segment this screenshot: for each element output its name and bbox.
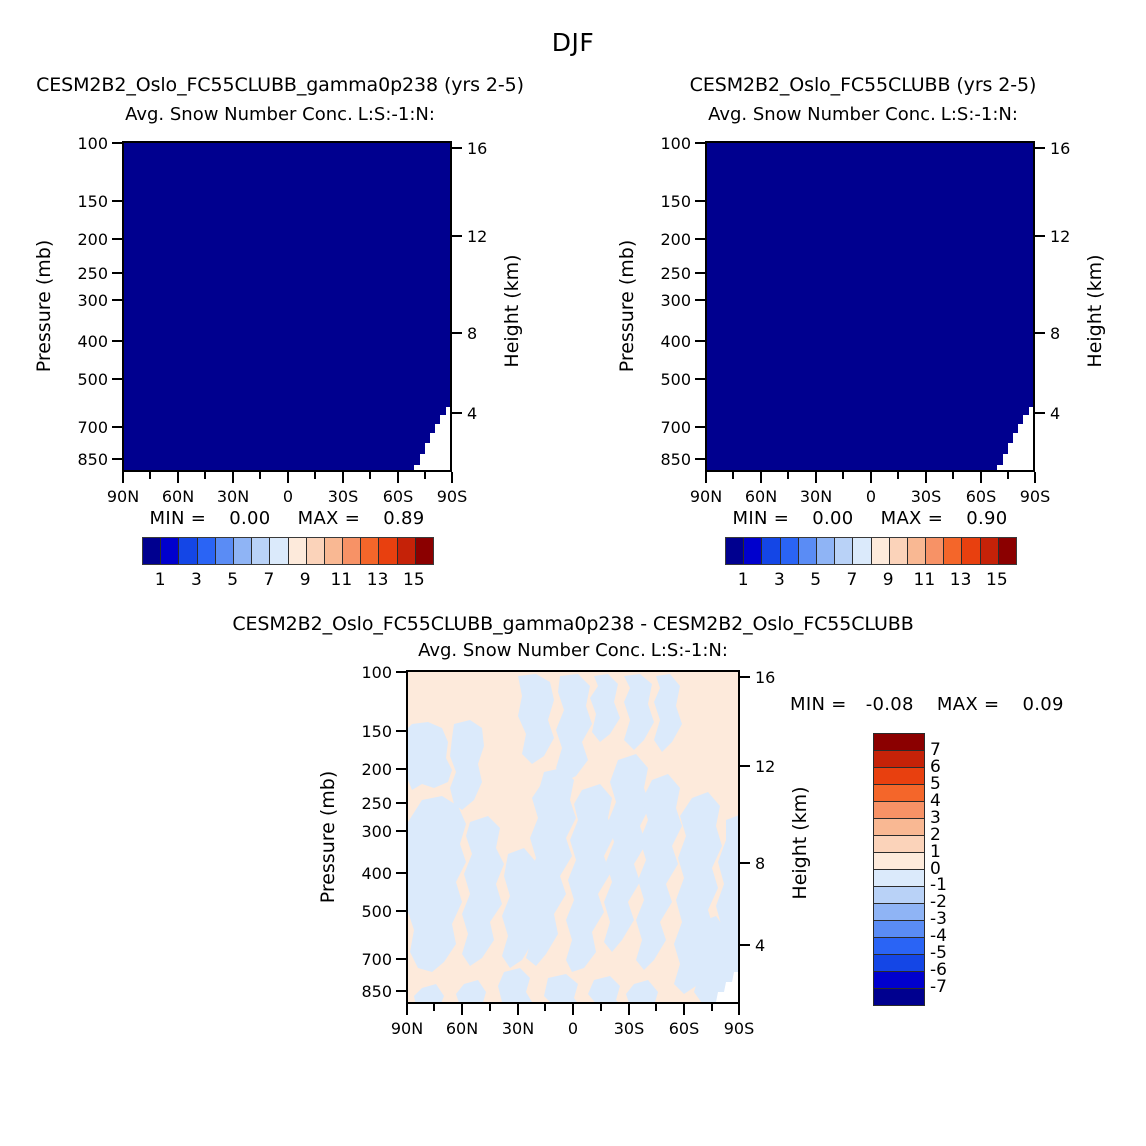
pressure-tick-label: 300 xyxy=(60,291,108,310)
colorbar-cell[interactable] xyxy=(270,538,288,564)
lat-tick-label: 60S xyxy=(955,487,1007,506)
colorbar-cell[interactable] xyxy=(874,853,924,870)
colorbar-cell[interactable] xyxy=(872,538,890,564)
lat-tick-label: 90N xyxy=(381,1019,433,1038)
lat-tick-label: 30N xyxy=(492,1019,544,1038)
min-value: 0.00 xyxy=(812,508,853,529)
colorbar-cell[interactable] xyxy=(874,819,924,836)
colorbar-tick-label: -7 xyxy=(930,977,947,997)
right-axis-title: Height (km) xyxy=(789,763,811,923)
colorbar-cell[interactable] xyxy=(944,538,962,564)
height-tick-label: 12 xyxy=(755,757,775,776)
pressure-tick-label: 300 xyxy=(643,291,691,310)
colorbar-ticklabels-top-right: 13579111315 xyxy=(725,570,1015,594)
pressure-tick-label: 100 xyxy=(60,134,108,153)
lat-tick-label: 30S xyxy=(900,487,952,506)
lat-tick-label: 60S xyxy=(372,487,424,506)
colorbar-cell[interactable] xyxy=(726,538,744,564)
colorbar-tick-label: 5 xyxy=(218,570,248,590)
colorbar-vertical-bottom-diff[interactable] xyxy=(873,733,925,1006)
pressure-tick-label: 200 xyxy=(643,230,691,249)
height-tick-label: 8 xyxy=(755,854,765,873)
colorbar-cell[interactable] xyxy=(874,955,924,972)
pressure-tick-label: 150 xyxy=(643,192,691,211)
max-value: 0.90 xyxy=(966,508,1007,529)
min-value: 0.00 xyxy=(229,508,270,529)
lat-tick-label: 90N xyxy=(680,487,732,506)
height-tick-label: 12 xyxy=(1050,227,1070,246)
colorbar-cell[interactable] xyxy=(343,538,361,564)
height-tick-label: 8 xyxy=(1050,324,1060,343)
pressure-tick-label: 250 xyxy=(643,264,691,283)
colorbar-cell[interactable] xyxy=(198,538,216,564)
panel-title: CESM2B2_Oslo_FC55CLUBB_gamma0p238 - CESM… xyxy=(0,613,1146,635)
height-tick-label: 12 xyxy=(467,227,487,246)
colorbar-cell[interactable] xyxy=(325,538,343,564)
colorbar-tick-label: 15 xyxy=(982,570,1012,590)
colorbar-cell[interactable] xyxy=(962,538,980,564)
colorbar-cell[interactable] xyxy=(379,538,397,564)
lat-tick-label: 60N xyxy=(152,487,204,506)
colorbar-cell[interactable] xyxy=(853,538,871,564)
minmax-line-bottom-diff: MIN = -0.08 MAX = 0.09 xyxy=(790,694,1064,715)
max-label: MAX = xyxy=(937,694,999,715)
right-axis-title: Height (km) xyxy=(501,231,523,391)
lat-tick-label: 30S xyxy=(317,487,369,506)
colorbar-cell[interactable] xyxy=(781,538,799,564)
panel-title: CESM2B2_Oslo_FC55CLUBB (yrs 2-5) xyxy=(583,74,1143,96)
colorbar-cell[interactable] xyxy=(216,538,234,564)
colorbar-cell[interactable] xyxy=(252,538,270,564)
colorbar-tick-label: 7 xyxy=(837,570,867,590)
colorbar-cell[interactable] xyxy=(874,802,924,819)
colorbar-cell[interactable] xyxy=(799,538,817,564)
plot-area-bottom-diff xyxy=(406,670,740,1004)
pressure-tick-label: 100 xyxy=(643,134,691,153)
height-tick-label: 8 xyxy=(467,324,477,343)
height-tick-label: 16 xyxy=(755,668,775,687)
missing-data-wedge xyxy=(408,672,740,1004)
colorbar-tick-label: 1 xyxy=(145,570,175,590)
colorbar-cell[interactable] xyxy=(874,921,924,938)
colorbar-cell[interactable] xyxy=(398,538,416,564)
plot-area-top-right xyxy=(705,141,1035,472)
panel-bottom-diff: CESM2B2_Oslo_FC55CLUBB_gamma0p238 - CESM… xyxy=(0,600,1146,1146)
colorbar-horizontal-top-left[interactable] xyxy=(142,537,434,565)
colorbar-cell[interactable] xyxy=(874,870,924,887)
pressure-tick-label: 700 xyxy=(643,418,691,437)
lat-tick-label: 30S xyxy=(603,1019,655,1038)
colorbar-cell[interactable] xyxy=(874,751,924,768)
pressure-tick-label: 500 xyxy=(643,370,691,389)
right-axis-title: Height (km) xyxy=(1084,231,1106,391)
max-value: 0.09 xyxy=(1022,694,1063,715)
lat-tick-label: 0 xyxy=(262,487,314,506)
lat-tick-label: 90S xyxy=(1009,487,1061,506)
pressure-tick-label: 700 xyxy=(344,950,392,969)
min-label: MIN = xyxy=(150,508,207,529)
height-tick-label: 4 xyxy=(1050,404,1060,423)
lat-tick-label: 90S xyxy=(713,1019,765,1038)
colorbar-cell[interactable] xyxy=(874,972,924,989)
lat-tick-label: 90S xyxy=(426,487,478,506)
pressure-tick-label: 850 xyxy=(643,450,691,469)
max-label: MAX = xyxy=(881,508,943,529)
colorbar-vertical-ticklabels: 76543210-1-2-3-4-5-6-7 xyxy=(930,733,970,1004)
lat-tick-label: 90N xyxy=(97,487,149,506)
lat-tick-label: 60N xyxy=(436,1019,488,1038)
panel-subtitle: Avg. Snow Number Conc.L:S:-1:N: xyxy=(583,104,1143,125)
colorbar-cell[interactable] xyxy=(762,538,780,564)
colorbar-cell[interactable] xyxy=(874,887,924,904)
min-label: MIN = xyxy=(733,508,790,529)
colorbar-cell[interactable] xyxy=(874,989,924,1005)
left-axis-title: Pressure (mb) xyxy=(616,226,638,386)
max-label: MAX = xyxy=(298,508,360,529)
panel-subtitle-suffix: L:S:-1:N: xyxy=(651,640,728,661)
height-tick-label: 16 xyxy=(467,139,487,158)
panel-subtitle-suffix: L:S:-1:N: xyxy=(941,104,1018,125)
colorbar-cell[interactable] xyxy=(981,538,999,564)
colorbar-cell[interactable] xyxy=(361,538,379,564)
pressure-tick-label: 100 xyxy=(344,663,392,682)
pressure-tick-label: 500 xyxy=(60,370,108,389)
colorbar-cell[interactable] xyxy=(874,785,924,802)
colorbar-cell[interactable] xyxy=(289,538,307,564)
lat-tick-label: 60S xyxy=(658,1019,710,1038)
panel-top-right: CESM2B2_Oslo_FC55CLUBB (yrs 2-5) Avg. Sn… xyxy=(573,0,1146,600)
colorbar-tick-label: 11 xyxy=(326,570,356,590)
pressure-tick-label: 250 xyxy=(60,264,108,283)
colorbar-tick-label: 1 xyxy=(728,570,758,590)
left-axis-title: Pressure (mb) xyxy=(33,226,55,386)
colorbar-tick-label: 3 xyxy=(764,570,794,590)
colorbar-cell[interactable] xyxy=(161,538,179,564)
panel-subtitle-main: Avg. Snow Number Conc. xyxy=(708,104,936,125)
colorbar-cell[interactable] xyxy=(874,734,924,751)
colorbar-tick-label: 9 xyxy=(873,570,903,590)
colorbar-tick-label: 9 xyxy=(290,570,320,590)
colorbar-cell[interactable] xyxy=(908,538,926,564)
pressure-tick-label: 200 xyxy=(60,230,108,249)
lat-tick-label: 0 xyxy=(547,1019,599,1038)
colorbar-cell[interactable] xyxy=(874,836,924,853)
lat-tick-label: 30N xyxy=(790,487,842,506)
colorbar-tick-label: 7 xyxy=(254,570,284,590)
colorbar-cell[interactable] xyxy=(926,538,944,564)
colorbar-cell[interactable] xyxy=(874,768,924,785)
colorbar-tick-label: 13 xyxy=(946,570,976,590)
left-axis-title: Pressure (mb) xyxy=(317,757,339,917)
colorbar-cell[interactable] xyxy=(744,538,762,564)
min-value: -0.08 xyxy=(866,694,914,715)
pressure-tick-label: 150 xyxy=(344,722,392,741)
colorbar-cell[interactable] xyxy=(234,538,252,564)
pressure-tick-label: 850 xyxy=(60,450,108,469)
panel-top-left: CESM2B2_Oslo_FC55CLUBB_gamma0p238 (yrs 2… xyxy=(0,0,573,600)
colorbar-cell[interactable] xyxy=(143,538,161,564)
colorbar-cell[interactable] xyxy=(817,538,835,564)
lat-tick-label: 30N xyxy=(207,487,259,506)
min-label: MIN = xyxy=(790,694,847,715)
colorbar-tick-label: 15 xyxy=(399,570,429,590)
height-tick-label: 16 xyxy=(1050,139,1070,158)
colorbar-tick-label: 5 xyxy=(801,570,831,590)
colorbar-tick-label: 13 xyxy=(363,570,393,590)
colorbar-cell[interactable] xyxy=(999,538,1016,564)
colorbar-cell[interactable] xyxy=(835,538,853,564)
panel-subtitle-main: Avg. Snow Number Conc. xyxy=(418,640,646,661)
colorbar-horizontal-top-right[interactable] xyxy=(725,537,1017,565)
missing-data-wedge xyxy=(707,143,1035,472)
minmax-line-top-left: MIN = 0.00 MAX = 0.89 xyxy=(122,508,452,529)
colorbar-cell[interactable] xyxy=(307,538,325,564)
colorbar-cell[interactable] xyxy=(179,538,197,564)
pressure-tick-label: 150 xyxy=(60,192,108,211)
pressure-tick-label: 400 xyxy=(643,332,691,351)
lat-tick-label: 60N xyxy=(735,487,787,506)
pressure-tick-label: 300 xyxy=(344,822,392,841)
colorbar-tick-label: 11 xyxy=(909,570,939,590)
lat-tick-label: 0 xyxy=(845,487,897,506)
colorbar-cell[interactable] xyxy=(874,938,924,955)
height-tick-label: 4 xyxy=(467,404,477,423)
colorbar-ticklabels-top-left: 13579111315 xyxy=(142,570,432,594)
height-tick-label: 4 xyxy=(755,936,765,955)
colorbar-cell[interactable] xyxy=(890,538,908,564)
pressure-tick-label: 500 xyxy=(344,902,392,921)
pressure-tick-label: 250 xyxy=(344,794,392,813)
pressure-tick-label: 200 xyxy=(344,760,392,779)
max-value: 0.89 xyxy=(383,508,424,529)
colorbar-tick-label: 3 xyxy=(181,570,211,590)
minmax-line-top-right: MIN = 0.00 MAX = 0.90 xyxy=(705,508,1035,529)
pressure-tick-label: 400 xyxy=(60,332,108,351)
pressure-tick-label: 850 xyxy=(344,982,392,1001)
pressure-tick-label: 700 xyxy=(60,418,108,437)
colorbar-cell[interactable] xyxy=(874,904,924,921)
pressure-tick-label: 400 xyxy=(344,864,392,883)
colorbar-cell[interactable] xyxy=(416,538,433,564)
panel-subtitle: Avg. Snow Number Conc.L:S:-1:N: xyxy=(0,640,1146,661)
